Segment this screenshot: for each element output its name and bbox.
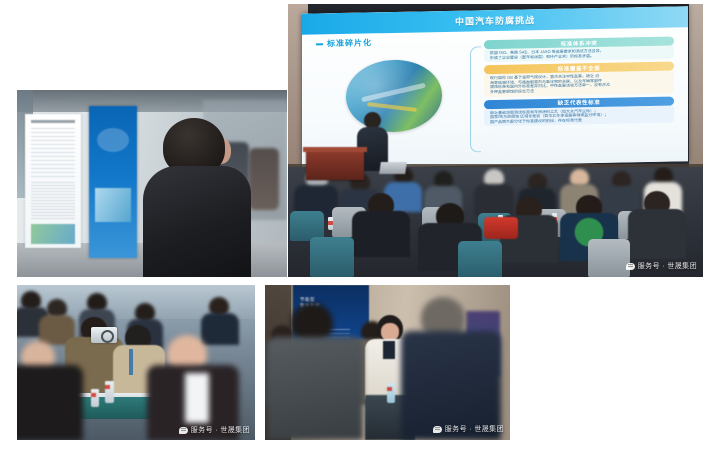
photo-networking[interactable]: 节能型整体防护技术 服务号 · 世晟集团 <box>265 285 510 440</box>
red-bag <box>484 217 518 239</box>
conference-chair <box>588 239 630 277</box>
slide-subtitle-text: 标准碎片化 <box>327 38 372 48</box>
photo-collage: 中国汽车防腐挑战 标准碎片化 标准体系冲突 欧盟 ISO、美国 SAE、日本 J… <box>0 0 703 451</box>
slide-subtitle: 标准碎片化 <box>316 37 372 49</box>
podium <box>306 150 364 180</box>
water-bottle <box>328 217 333 230</box>
audience-torso <box>474 184 514 216</box>
slide-box-2: 标准覆盖不全面 现行国标 GB 基于温带气候设计，重点关注中性盐雾，缺乏 沿 海… <box>484 62 674 97</box>
audience-torso <box>628 209 686 259</box>
water-bottle <box>105 381 114 403</box>
water-bottle <box>387 383 395 403</box>
conference-chair <box>458 241 502 277</box>
slide-box-3: 缺乏代表性标准 缺乏基础涂层测试标准和车用涂料工艺（如大众汽车企标）； 国家/地… <box>484 96 674 126</box>
slide-content-boxes: 标准体系冲突 欧盟 ISO、美国 SAE、日本 JASO 等盐雾要求和测试方法各… <box>484 37 674 130</box>
audience-torso <box>352 211 410 257</box>
watermark: 服务号 · 世晟集团 <box>626 261 697 271</box>
foreground-man-suit <box>267 337 363 440</box>
slide-title: 中国汽车防腐挑战 <box>455 13 535 28</box>
smartphone <box>91 327 117 343</box>
conference-chair <box>310 237 354 277</box>
centre-woman-collar <box>383 341 395 359</box>
subtitle-dash-icon <box>316 43 323 45</box>
watermark-text: 服务号 · 世晟集团 <box>638 261 697 271</box>
speech-bubble-icon <box>433 426 442 433</box>
slide-box-1: 标准体系冲突 欧盟 ISO、美国 SAE、日本 JASO 等盐雾要求和测试方法各… <box>484 37 674 63</box>
foreground-torso <box>17 365 83 440</box>
laptop <box>379 162 407 174</box>
rollup-banner <box>89 106 137 258</box>
watermark-text: 服务号 · 世晟集团 <box>445 424 504 434</box>
brace-icon <box>470 46 481 152</box>
watermark: 服务号 · 世晟集团 <box>433 424 504 434</box>
foreground-collar <box>185 373 209 423</box>
watermark-text: 服务号 · 世晟集团 <box>191 425 250 435</box>
photo-audience[interactable]: 服务号 · 世晟集团 <box>17 285 255 440</box>
speech-bubble-icon <box>179 427 188 434</box>
lanyard <box>129 349 133 375</box>
poster-board <box>25 114 81 248</box>
foreground-woman <box>137 118 255 277</box>
audience-torso <box>201 313 239 345</box>
water-bottle <box>91 389 99 407</box>
watermark: 服务号 · 世晟集团 <box>179 425 250 435</box>
side-wall-right <box>689 4 703 173</box>
photo-lecture-hall[interactable]: 中国汽车防腐挑战 标准碎片化 标准体系冲突 欧盟 ISO、美国 SAE、日本 J… <box>288 4 703 277</box>
photo-poster-hall[interactable] <box>17 90 287 277</box>
speech-bubble-icon <box>626 263 635 270</box>
